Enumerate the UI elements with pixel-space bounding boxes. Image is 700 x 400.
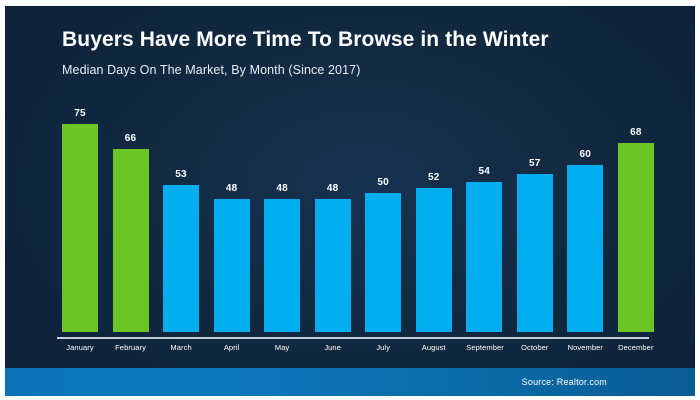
bar-column[interactable]: 54 <box>466 94 502 332</box>
bar-column[interactable]: 52 <box>416 94 452 332</box>
chart-subtitle: Median Days On The Market, By Month (Sin… <box>62 63 360 77</box>
footer-band: Source: Realtor.com <box>5 368 695 396</box>
bar-value-label: 68 <box>630 127 642 138</box>
bar[interactable] <box>567 165 603 332</box>
bar-value-label: 48 <box>276 183 288 194</box>
bar[interactable] <box>264 199 300 332</box>
x-tick-label: March <box>163 343 199 352</box>
bar-column[interactable]: 48 <box>315 94 351 332</box>
bar-highlight[interactable] <box>618 143 654 332</box>
bar[interactable] <box>466 182 502 332</box>
bar-value-label: 54 <box>478 166 490 177</box>
source-label: Source: Realtor.com <box>522 377 607 387</box>
bar-column[interactable]: 75 <box>62 94 98 332</box>
bar-chart-plot-area: 756653484848505254576068 <box>62 94 654 332</box>
x-tick-label: January <box>62 343 98 352</box>
bar[interactable] <box>416 188 452 332</box>
x-tick-label: May <box>264 343 300 352</box>
bar-series: 756653484848505254576068 <box>62 94 654 332</box>
bar-column[interactable]: 53 <box>163 94 199 332</box>
page-title: Buyers Have More Time To Browse in the W… <box>62 28 549 52</box>
bar[interactable] <box>214 199 250 332</box>
bar-column[interactable]: 48 <box>264 94 300 332</box>
bar-highlight[interactable] <box>62 124 98 332</box>
slide-frame: Buyers Have More Time To Browse in the W… <box>0 0 700 400</box>
x-tick-label: August <box>416 343 452 352</box>
x-tick-label: September <box>466 343 502 352</box>
bar[interactable] <box>163 185 199 332</box>
bar-column[interactable]: 57 <box>517 94 553 332</box>
bar-value-label: 50 <box>377 177 389 188</box>
bar-column[interactable]: 48 <box>214 94 250 332</box>
x-tick-label: June <box>315 343 351 352</box>
x-axis-tick-labels: JanuaryFebruaryMarchAprilMayJuneJulyAugu… <box>62 343 654 352</box>
x-tick-label: February <box>113 343 149 352</box>
x-tick-label: November <box>567 343 603 352</box>
bar-column[interactable]: 50 <box>365 94 401 332</box>
x-tick-label: October <box>517 343 553 352</box>
chart-slide: Buyers Have More Time To Browse in the W… <box>5 6 695 396</box>
bar-column[interactable]: 60 <box>567 94 603 332</box>
bar-value-label: 48 <box>226 183 238 194</box>
bar-value-label: 60 <box>580 149 592 160</box>
bar-value-label: 66 <box>125 133 137 144</box>
bar-value-label: 52 <box>428 172 440 183</box>
bar-column[interactable]: 66 <box>113 94 149 332</box>
x-tick-label: April <box>214 343 250 352</box>
x-tick-label: December <box>618 343 654 352</box>
bar-value-label: 57 <box>529 158 541 169</box>
bar[interactable] <box>315 199 351 332</box>
bar-highlight[interactable] <box>113 149 149 332</box>
x-tick-label: July <box>365 343 401 352</box>
bar[interactable] <box>517 174 553 332</box>
bar-value-label: 75 <box>74 108 86 119</box>
x-axis-line <box>57 337 649 339</box>
bar-column[interactable]: 68 <box>618 94 654 332</box>
bar-value-label: 53 <box>175 169 187 180</box>
bar[interactable] <box>365 193 401 332</box>
bar-value-label: 48 <box>327 183 339 194</box>
